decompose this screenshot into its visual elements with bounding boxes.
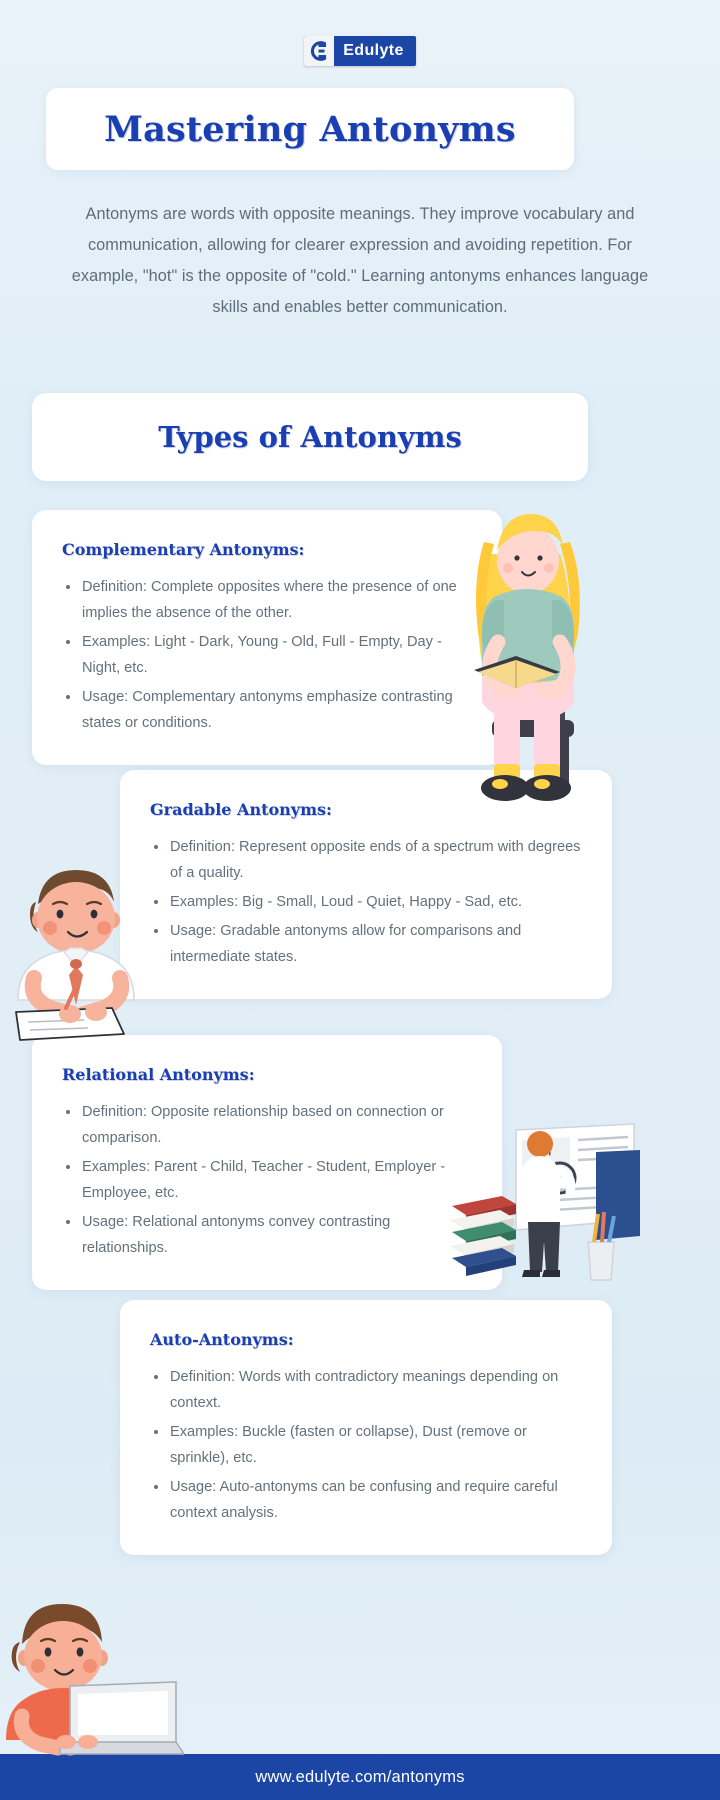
type-card-relational: Relational Antonyms: Definition: Opposit… bbox=[32, 1035, 502, 1290]
list-item: Definition: Represent opposite ends of a… bbox=[150, 834, 586, 886]
type-bullet-list: Definition: Represent opposite ends of a… bbox=[150, 834, 586, 970]
list-item: Examples: Light - Dark, Young - Old, Ful… bbox=[62, 629, 476, 681]
logo-wordmark: Edulyte bbox=[334, 36, 416, 66]
list-item: Usage: Gradable antonyms allow for compa… bbox=[150, 918, 586, 970]
list-item: Usage: Auto-antonyms can be confusing an… bbox=[150, 1474, 586, 1526]
type-bullet-list: Definition: Opposite relationship based … bbox=[62, 1099, 476, 1261]
list-item: Definition: Complete opposites where the… bbox=[62, 574, 476, 626]
edulyte-e-mark-icon bbox=[304, 36, 334, 66]
section-heading-card: Types of Antonyms bbox=[32, 393, 588, 481]
logo-badge[interactable]: Edulyte bbox=[304, 36, 416, 66]
boy-writing-at-desk-illustration bbox=[8, 862, 176, 1042]
list-item: Examples: Buckle (fasten or collapse), D… bbox=[150, 1419, 586, 1471]
list-item: Definition: Opposite relationship based … bbox=[62, 1099, 476, 1151]
list-item: Usage: Complementary antonyms emphasize … bbox=[62, 684, 476, 736]
list-item: Usage: Relational antonyms convey contra… bbox=[62, 1209, 476, 1261]
list-item: Definition: Words with contradictory mea… bbox=[150, 1364, 586, 1416]
list-item: Examples: Parent - Child, Teacher - Stud… bbox=[62, 1154, 476, 1206]
man-with-books-and-document-illustration: T bbox=[448, 1122, 640, 1302]
footer-url[interactable]: www.edulyte.com/antonyms bbox=[255, 1768, 464, 1787]
type-heading: Relational Antonyms: bbox=[62, 1065, 476, 1084]
brand-logo[interactable]: Edulyte bbox=[0, 36, 720, 66]
footer-bar: www.edulyte.com/antonyms bbox=[0, 1754, 720, 1800]
boy-with-laptop-illustration bbox=[4, 1600, 184, 1760]
type-heading: Complementary Antonyms: bbox=[62, 540, 476, 559]
list-item: Examples: Big - Small, Loud - Quiet, Hap… bbox=[150, 889, 586, 915]
section-title: Types of Antonyms bbox=[158, 420, 462, 454]
girl-reading-book-illustration bbox=[452, 492, 640, 822]
intro-paragraph: Antonyms are words with opposite meaning… bbox=[55, 199, 665, 323]
type-card-auto-antonyms: Auto-Antonyms: Definition: Words with co… bbox=[120, 1300, 612, 1555]
title-card: Mastering Antonyms bbox=[46, 88, 574, 170]
type-bullet-list: Definition: Words with contradictory mea… bbox=[150, 1364, 586, 1526]
page-title: Mastering Antonyms bbox=[104, 109, 516, 150]
type-bullet-list: Definition: Complete opposites where the… bbox=[62, 574, 476, 736]
infographic-page: Edulyte Mastering Antonyms Antonyms are … bbox=[0, 0, 720, 1800]
type-card-complementary: Complementary Antonyms: Definition: Comp… bbox=[32, 510, 502, 765]
type-heading: Auto-Antonyms: bbox=[150, 1330, 586, 1349]
